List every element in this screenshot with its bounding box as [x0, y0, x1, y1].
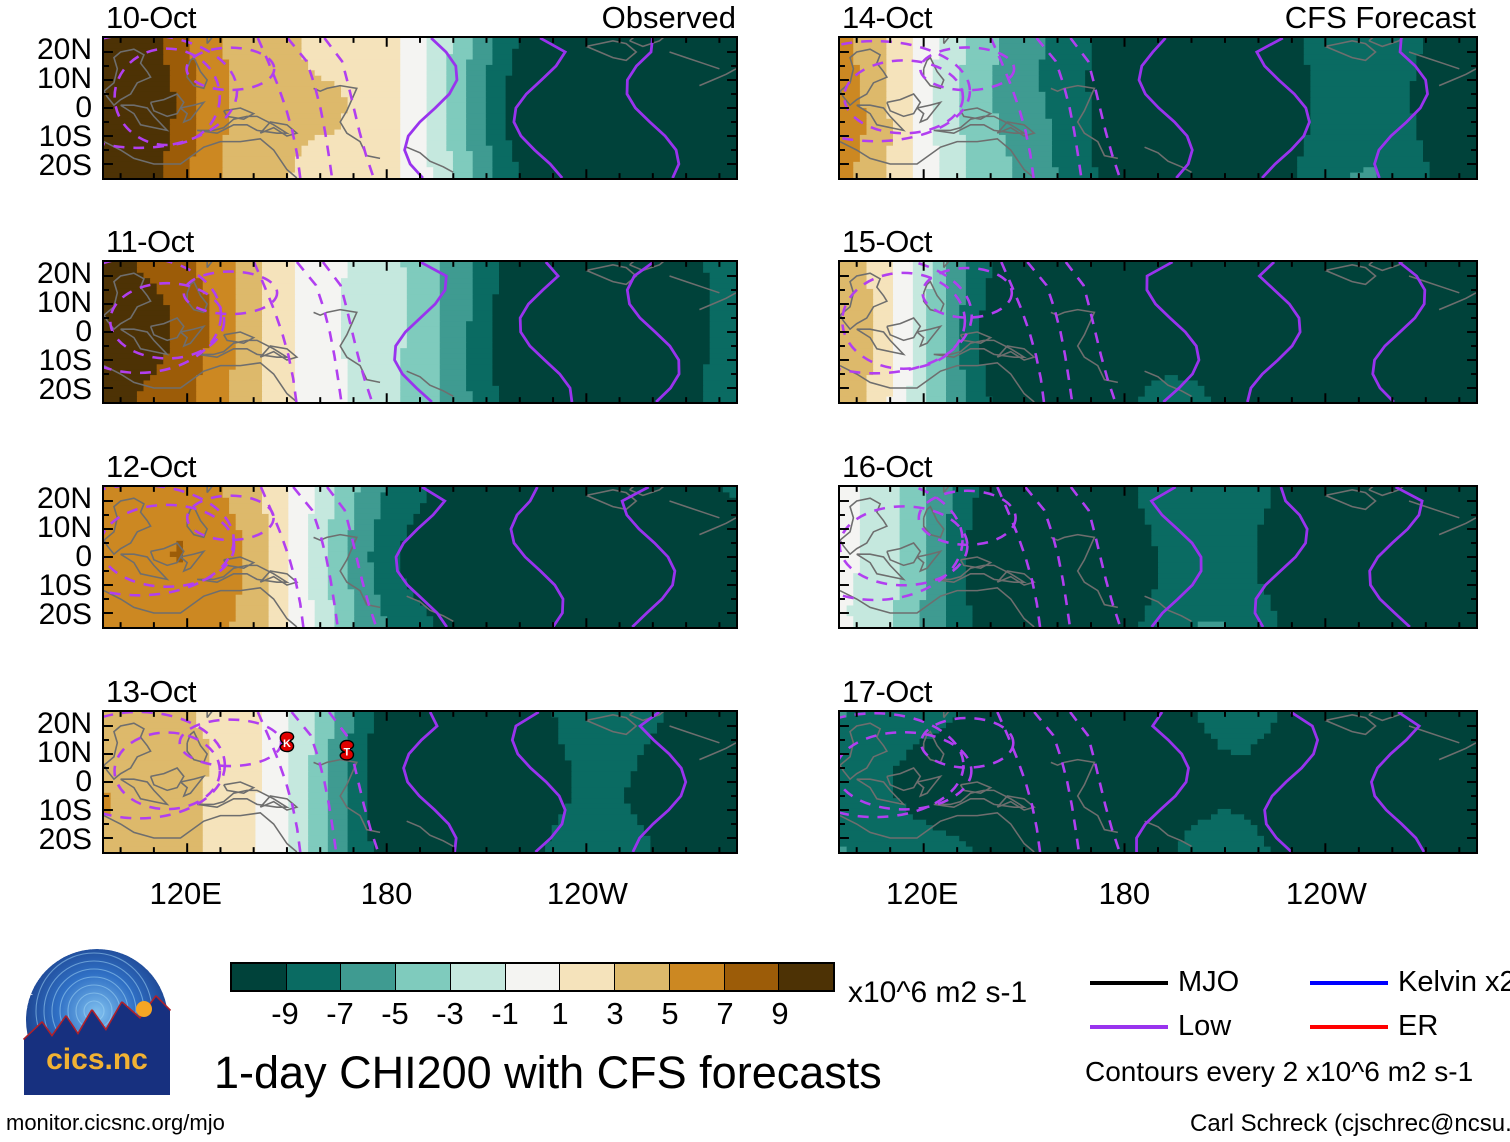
y-tick-label-10n: 10N: [37, 738, 92, 768]
colorbar-tick-7: 7: [716, 998, 733, 1029]
y-axis-labels-row-1: 20N10N010S20S: [0, 260, 92, 404]
colorbar-tick--9: -9: [271, 998, 299, 1029]
y-tick-label-10s: 10S: [39, 346, 92, 376]
y-tick-label-10n: 10N: [37, 64, 92, 94]
column-label-right: CFS Forecast: [1285, 2, 1476, 33]
panel-11-oct: 11-Oct: [102, 226, 738, 410]
colorbar-swatch-7: [615, 964, 670, 990]
panel-date-label: 11-Oct: [106, 226, 194, 257]
colorbar-swatch-6: [560, 964, 615, 990]
colorbar-swatch-3: [396, 964, 451, 990]
y-tick-label-20n: 20N: [37, 35, 92, 65]
panel-date-label: 15-Oct: [842, 226, 932, 257]
y-tick-label-10s: 10S: [39, 122, 92, 152]
colorbar-swatch-2: [341, 964, 396, 990]
y-tick-label-10n: 10N: [37, 288, 92, 318]
colorbar-tick--1: -1: [491, 998, 519, 1029]
colorbar-tick--3: -3: [436, 998, 464, 1029]
svg-text:K: K: [283, 738, 291, 750]
y-axis-labels-row-2: 20N10N010S20S: [0, 485, 92, 629]
colorbar-units-label: x10^6 m2 s-1: [848, 978, 1027, 1008]
panel-date-label: 10-Oct: [106, 2, 196, 33]
map-14-oct[interactable]: [838, 36, 1478, 180]
y-tick-label-20s: 20S: [39, 375, 92, 405]
map-10-oct[interactable]: [102, 36, 738, 180]
svg-text:cics.nc: cics.nc: [46, 1043, 148, 1076]
panel-16-oct: 16-Oct: [838, 451, 1478, 635]
legend-item-mjo: MJO: [1090, 968, 1239, 997]
legend-label-mjo: MJO: [1178, 968, 1239, 997]
colorbar-tick--7: -7: [326, 998, 354, 1029]
colorbar-swatch-1: [287, 964, 342, 990]
svg-text:T: T: [344, 747, 351, 759]
colorbar-tick-labels: -9-7-5-3-113579: [230, 998, 835, 1032]
site-url-text: monitor.cicsnc.org/mjo: [6, 1112, 225, 1134]
map-15-oct[interactable]: [838, 260, 1478, 404]
colorbar-tick-9: 9: [771, 998, 788, 1029]
contour-interval-note: Contours every 2 x10^6 m2 s-1: [1085, 1058, 1473, 1086]
panel-15-oct: 15-Oct: [838, 226, 1478, 410]
y-tick-label-20s: 20S: [39, 151, 92, 181]
credit-text: Carl Schreck (cjschrec@ncsu.edu): [1190, 1112, 1510, 1136]
legend-item-er: ER: [1310, 1012, 1438, 1041]
colorbar-swatch-8: [670, 964, 725, 990]
y-tick-label-10n: 10N: [37, 513, 92, 543]
y-tick-label-10s: 10S: [39, 796, 92, 826]
map-13-oct[interactable]: KT: [102, 710, 738, 854]
panel-date-label: 17-Oct: [842, 676, 932, 707]
panel-17-oct: 17-Oct: [838, 676, 1478, 860]
colorbar-tick-3: 3: [606, 998, 623, 1029]
panel-12-oct: 12-Oct: [102, 451, 738, 635]
x-tick-label-180: 180: [1098, 878, 1150, 909]
x-tick-label-120e: 120E: [149, 878, 221, 909]
y-tick-label-0: 0: [75, 767, 92, 797]
legend-item-kelvin: Kelvin x2: [1310, 968, 1510, 997]
panel-date-label: 14-Oct: [842, 2, 932, 33]
cics-nc-logo: Cooperative Institute for Climate and Sa…: [22, 945, 172, 1095]
x-axis-labels-right: 120E180120W: [838, 878, 1478, 918]
x-tick-label-120e: 120E: [886, 878, 958, 909]
column-label-left: Observed: [602, 2, 736, 33]
y-tick-label-20s: 20S: [39, 825, 92, 855]
colorbar-tick--5: -5: [381, 998, 409, 1029]
panel-date-label: 12-Oct: [106, 451, 196, 482]
map-17-oct[interactable]: [838, 710, 1478, 854]
map-12-oct[interactable]: [102, 485, 738, 629]
map-11-oct[interactable]: [102, 260, 738, 404]
y-tick-label-0: 0: [75, 317, 92, 347]
x-tick-label-120w: 120W: [1286, 878, 1367, 909]
colorbar-swatch-0: [232, 964, 287, 990]
colorbar-swatch-4: [451, 964, 506, 990]
legend-line-mjo: [1090, 981, 1168, 985]
y-tick-label-20n: 20N: [37, 709, 92, 739]
legend-label-kelvin: Kelvin x2: [1398, 968, 1510, 997]
legend-line-er: [1310, 1025, 1388, 1029]
legend-line-kelvin: [1310, 981, 1388, 985]
y-tick-label-20n: 20N: [37, 484, 92, 514]
y-axis-labels-row-3: 20N10N010S20S: [0, 710, 92, 854]
x-tick-label-120w: 120W: [547, 878, 628, 909]
x-tick-label-180: 180: [361, 878, 413, 909]
main-title: 1-day CHI200 with CFS forecasts: [214, 1050, 882, 1095]
colorbar-swatch-10: [779, 964, 833, 990]
panel-10-oct: 10-OctObserved: [102, 2, 738, 186]
y-axis-labels-row-0: 20N10N010S20S: [0, 36, 92, 180]
y-tick-label-0: 0: [75, 542, 92, 572]
y-tick-label-20s: 20S: [39, 600, 92, 630]
colorbar-swatch-9: [725, 964, 780, 990]
colorbar-tick-5: 5: [661, 998, 678, 1029]
y-tick-label-20n: 20N: [37, 259, 92, 289]
legend-label-er: ER: [1398, 1012, 1438, 1041]
colorbar-swatch-5: [506, 964, 561, 990]
y-tick-label-0: 0: [75, 93, 92, 123]
x-axis-labels-left: 120E180120W: [102, 878, 738, 918]
colorbar: [230, 962, 835, 992]
y-tick-label-10s: 10S: [39, 571, 92, 601]
map-16-oct[interactable]: [838, 485, 1478, 629]
panel-date-label: 13-Oct: [106, 676, 196, 707]
legend-item-low: Low: [1090, 1012, 1231, 1041]
colorbar-tick-1: 1: [551, 998, 568, 1029]
legend-label-low: Low: [1178, 1012, 1231, 1041]
legend-line-low: [1090, 1025, 1168, 1029]
panel-14-oct: 14-OctCFS Forecast: [838, 2, 1478, 186]
panel-date-label: 16-Oct: [842, 451, 932, 482]
panel-13-oct: 13-OctKT: [102, 676, 738, 860]
